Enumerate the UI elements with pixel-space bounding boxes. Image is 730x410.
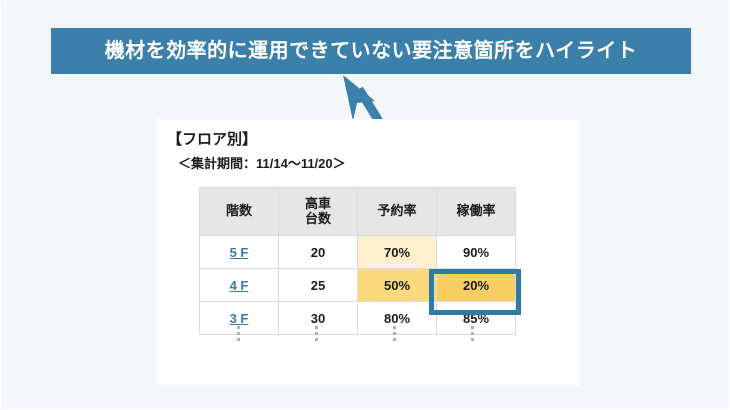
floor-link-5f[interactable]: 5 F [230, 245, 249, 260]
column-header-cars-line2: 台数 [305, 211, 331, 226]
card-subtitle-period: ＜集計期間：11/14〜11/20＞ [178, 153, 346, 172]
column-header-floor-label: 階数 [226, 203, 252, 218]
callout-banner-text: 機材を効率的に運用できていない要注意箇所をハイライト [105, 41, 638, 61]
report-card: 【フロア別】 ＜集計期間：11/14〜11/20＞ 階数 高車 台数 予約率 [156, 119, 579, 386]
floor-link-4f[interactable]: 4 F [230, 278, 249, 293]
table-header-row: 階数 高車 台数 予約率 稼働率 [200, 188, 516, 236]
column-header-reservation-rate: 予約率 [358, 188, 437, 236]
cell-utilization-rate-highlighted: 20% [437, 269, 516, 302]
slide-canvas: 機材を効率的に運用できていない要注意箇所をハイライト 【フロア別】 ＜集計期間：… [0, 0, 730, 410]
column-header-utilization-rate: 稼働率 [437, 188, 516, 236]
table-row: 4 F 25 50% 20% [200, 269, 516, 302]
ellipsis-utilization-rate [433, 319, 511, 347]
column-header-cars-line1: 高車 [305, 196, 331, 211]
cell-reservation-rate: 50% [358, 269, 437, 302]
cell-floor[interactable]: 5 F [200, 236, 279, 269]
column-header-floor: 階数 [200, 188, 279, 236]
floor-stats-table: 階数 高車 台数 予約率 稼働率 5 F [199, 187, 516, 335]
column-header-cars: 高車 台数 [279, 188, 358, 236]
column-header-reservation-rate-label: 予約率 [377, 203, 416, 218]
callout-banner: 機材を効率的に運用できていない要注意箇所をハイライト [51, 28, 691, 74]
cell-cars: 20 [279, 236, 358, 269]
ellipsis-reservation-rate [355, 319, 433, 347]
cell-floor[interactable]: 4 F [200, 269, 279, 302]
card-title: 【フロア別】 [167, 128, 257, 149]
table-continuation-ellipsis [199, 319, 511, 347]
table-header: 階数 高車 台数 予約率 稼働率 [200, 188, 516, 236]
column-header-utilization-rate-label: 稼働率 [456, 203, 495, 218]
table-row: 5 F 20 70% 90% [200, 236, 516, 269]
ellipsis-cars [277, 319, 355, 347]
cell-cars: 25 [279, 269, 358, 302]
cell-utilization-rate: 90% [437, 236, 516, 269]
ellipsis-floor [199, 319, 277, 347]
cell-reservation-rate: 70% [358, 236, 437, 269]
